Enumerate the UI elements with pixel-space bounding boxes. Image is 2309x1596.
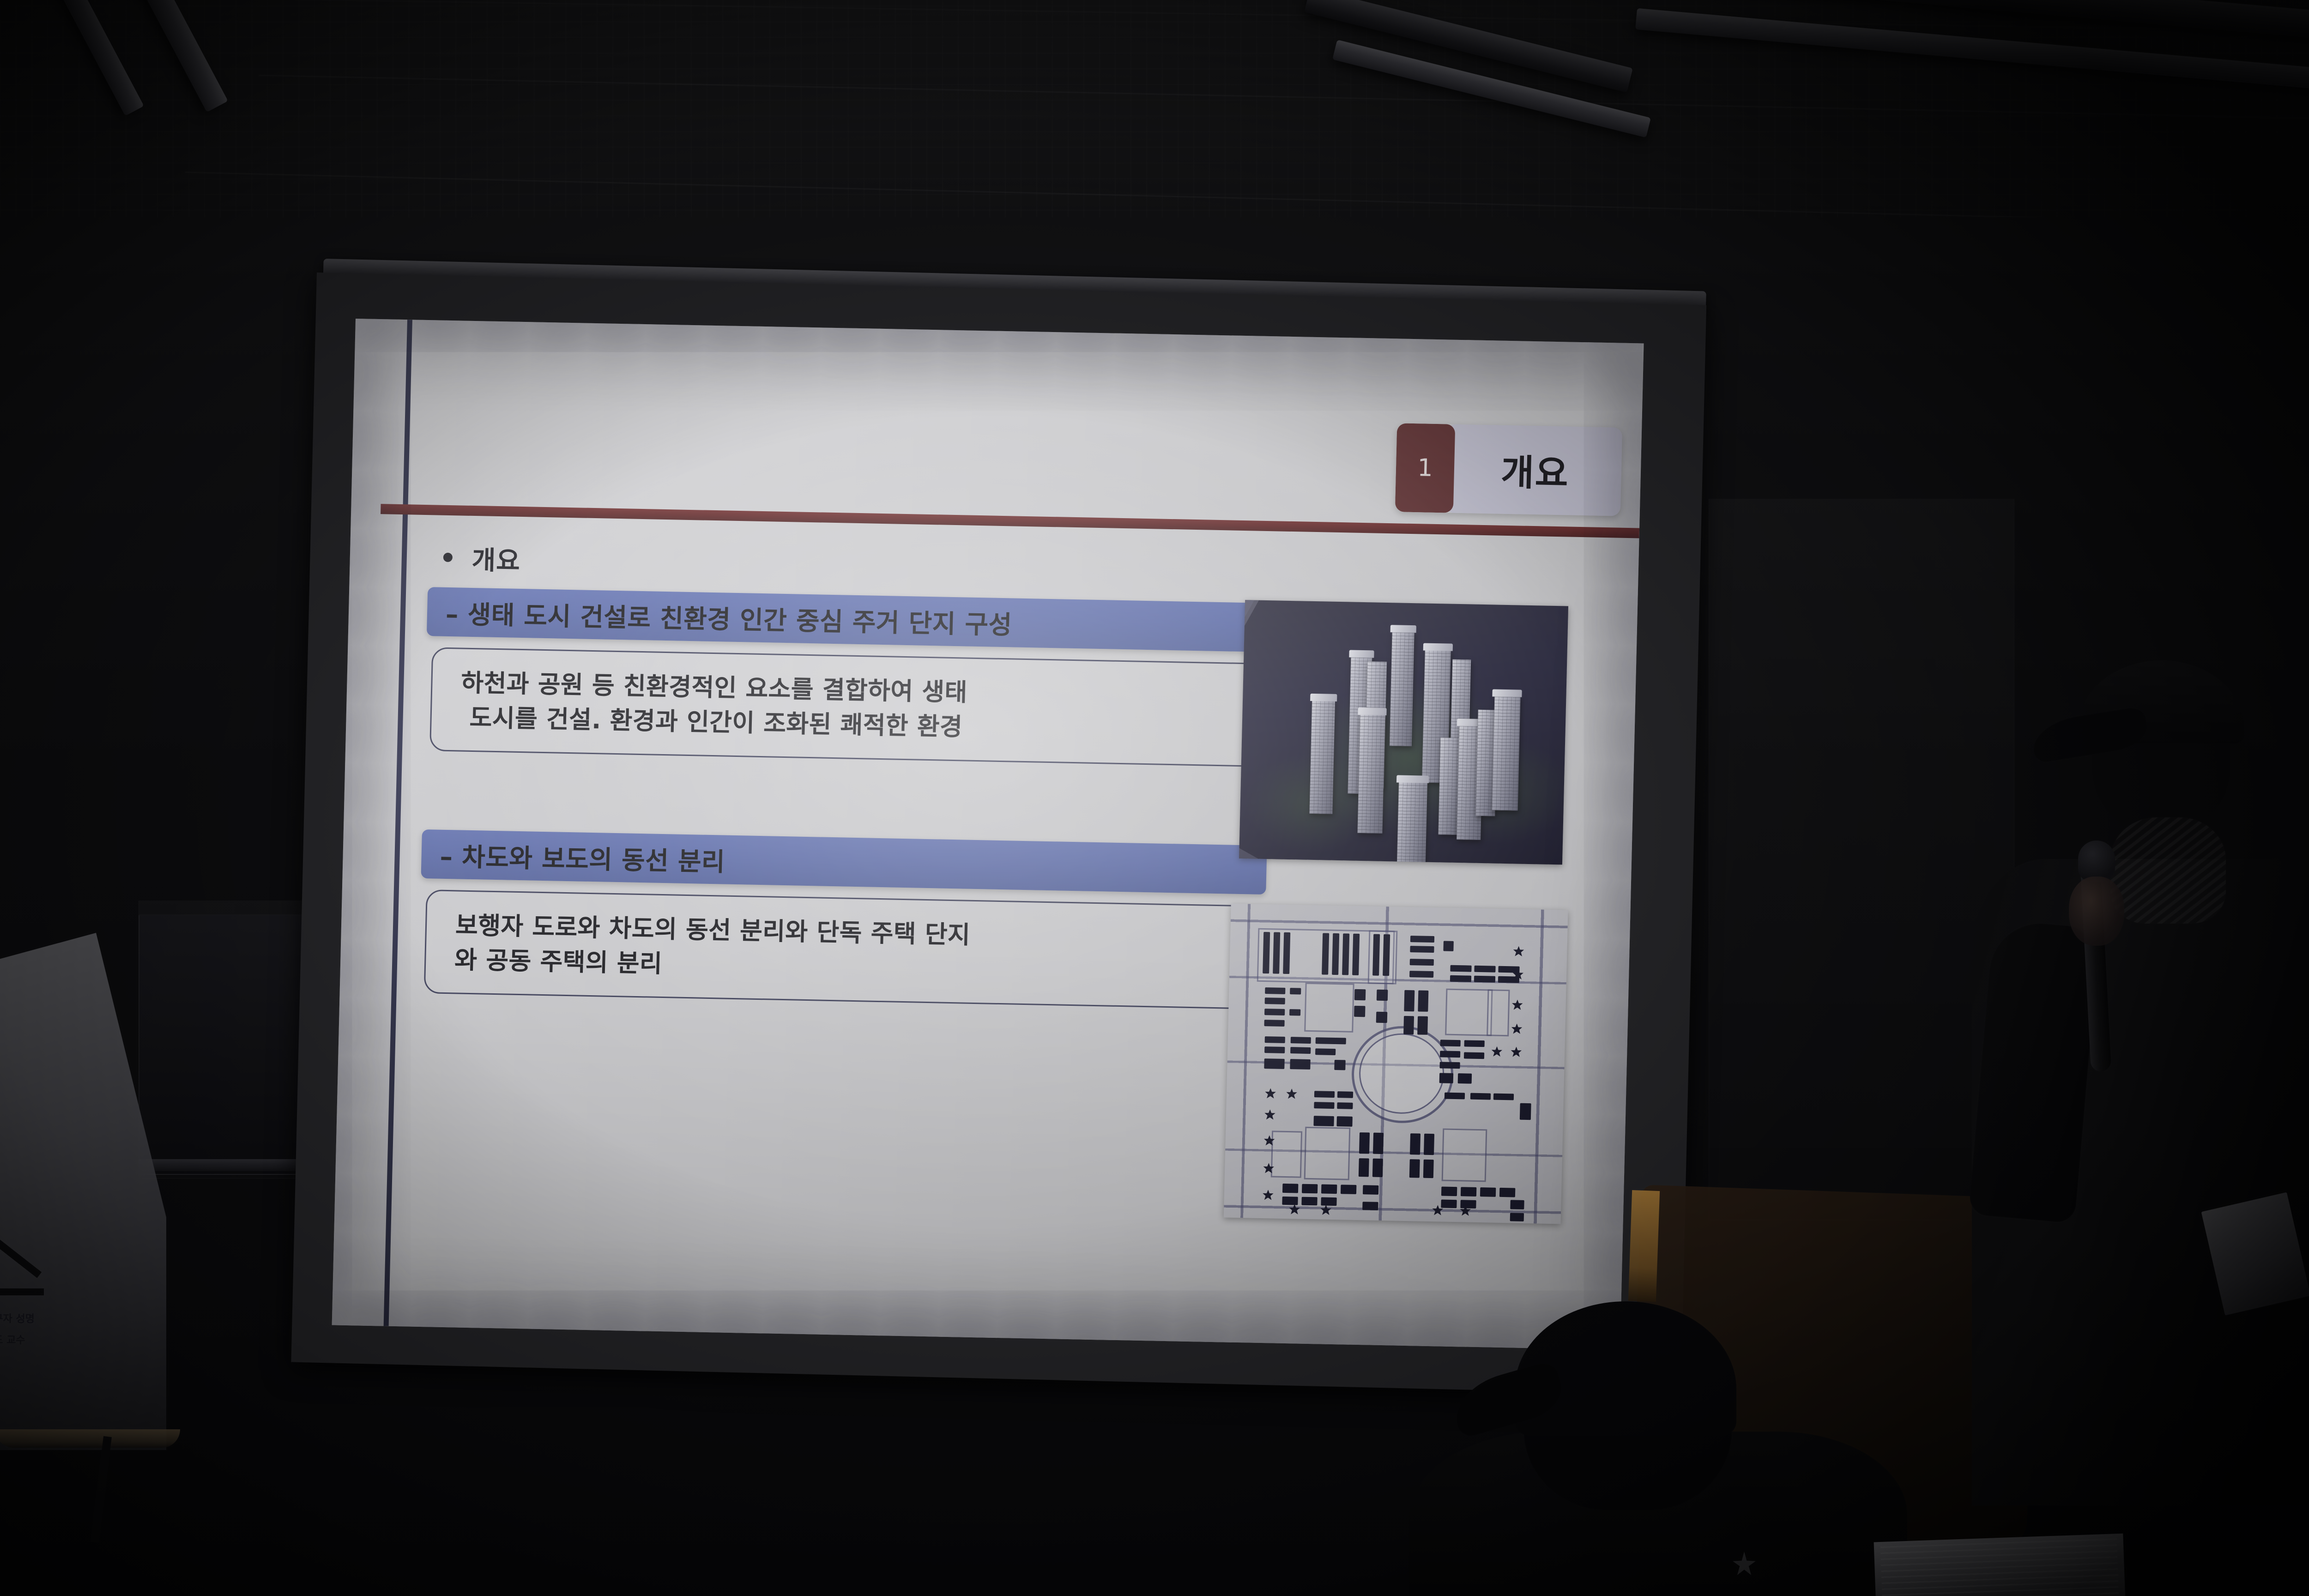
presenter-hand	[2069, 877, 2124, 946]
bullet-dot-icon	[443, 553, 453, 562]
apartment-complex-rendering	[1239, 600, 1568, 864]
tower	[1492, 695, 1521, 810]
page-title: 개요	[1445, 424, 1622, 516]
presenter-scarf	[2110, 817, 2226, 924]
easel-base	[0, 1429, 180, 1448]
audience-member	[1408, 1293, 1940, 1596]
section-bar: – 차도와 보도의 동선 분리	[421, 829, 1267, 895]
section-note-box: 하천과 공원 등 친환경적인 요소를 결합하여 생태 도시를 건설. 환경과 인…	[429, 647, 1272, 767]
poster-text-line-2: 지도 교수	[0, 1333, 63, 1348]
tower	[1357, 713, 1385, 834]
tower	[1397, 781, 1427, 865]
microphone-head	[2078, 840, 2115, 882]
poster-mark	[0, 1288, 44, 1295]
section-bar: – 생태 도시 건설로 친환경 인간 중심 주거 단지 구성	[427, 587, 1273, 652]
desk-paper	[1874, 1534, 2126, 1596]
tower	[1309, 698, 1335, 814]
tower	[1390, 630, 1414, 746]
foreground-chair-edge	[1628, 1190, 1660, 1302]
slide-section-number: 1	[1395, 423, 1456, 513]
easel-with-poster: 연구자 성명 지도 교수	[0, 933, 180, 1501]
presenter	[1953, 600, 2309, 1492]
projected-slide: 1 개요 개요 – 생태 도시 건설로 친환경 인간 중심 주거 단지 구성 하…	[332, 319, 1644, 1350]
section-note-box: 보행자 도로와 차도의 동선 분리와 단독 주택 단지 와 공동 주택의 분리	[424, 889, 1267, 1010]
section-bar-label: – 생태 도시 건설로 친환경 인간 중심 주거 단지 구성	[445, 593, 1013, 641]
slide-header-badge: 1 개요	[1395, 423, 1622, 516]
bullet-label: 개요	[471, 539, 521, 577]
urban-site-plan	[1224, 904, 1568, 1224]
slide-left-rule	[384, 320, 412, 1326]
photo-scene: 1 개요 개요 – 생태 도시 건설로 친환경 인간 중심 주거 단지 구성 하…	[0, 0, 2309, 1596]
poster-text-line-1: 연구자 성명	[0, 1312, 63, 1327]
section-bar-label: – 차도와 보도의 동선 분리	[440, 836, 725, 878]
poster-sheet	[0, 933, 166, 1450]
